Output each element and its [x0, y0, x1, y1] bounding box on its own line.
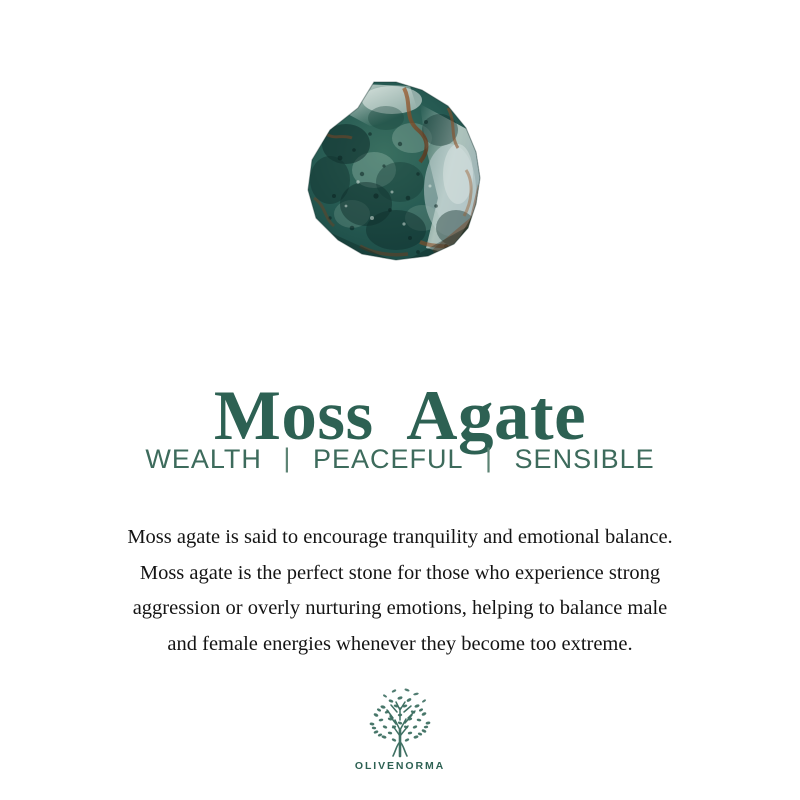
moss-agate-info-card: Moss Agate WEALTH | PEACEFUL | SENSIBLE … — [0, 0, 800, 800]
keyword-separator-2: | — [472, 442, 506, 474]
keyword-peaceful: PEACEFUL — [313, 443, 464, 475]
description-line: and female energies whenever they become… — [0, 627, 800, 663]
olive-tree-icon — [363, 686, 437, 758]
description-paragraph: Moss agate is said to encourage tranquil… — [0, 520, 800, 662]
keyword-list: WEALTH | PEACEFUL | SENSIBLE — [0, 443, 800, 475]
brand-logo: OLIVENORMA — [0, 686, 800, 772]
keyword-wealth: WEALTH — [145, 443, 262, 475]
description-line: aggression or overly nurturing emotions,… — [0, 591, 800, 627]
stone-image-container — [0, 78, 800, 268]
brand-name: OLIVENORMA — [355, 760, 445, 772]
description-line: Moss agate is the perfect stone for thos… — [0, 556, 800, 592]
description-line: Moss agate is said to encourage tranquil… — [0, 520, 800, 556]
keyword-separator-1: | — [270, 442, 304, 474]
moss-agate-stone-icon — [300, 78, 500, 268]
keyword-sensible: SENSIBLE — [515, 443, 655, 475]
page-title: Moss Agate — [0, 381, 800, 452]
